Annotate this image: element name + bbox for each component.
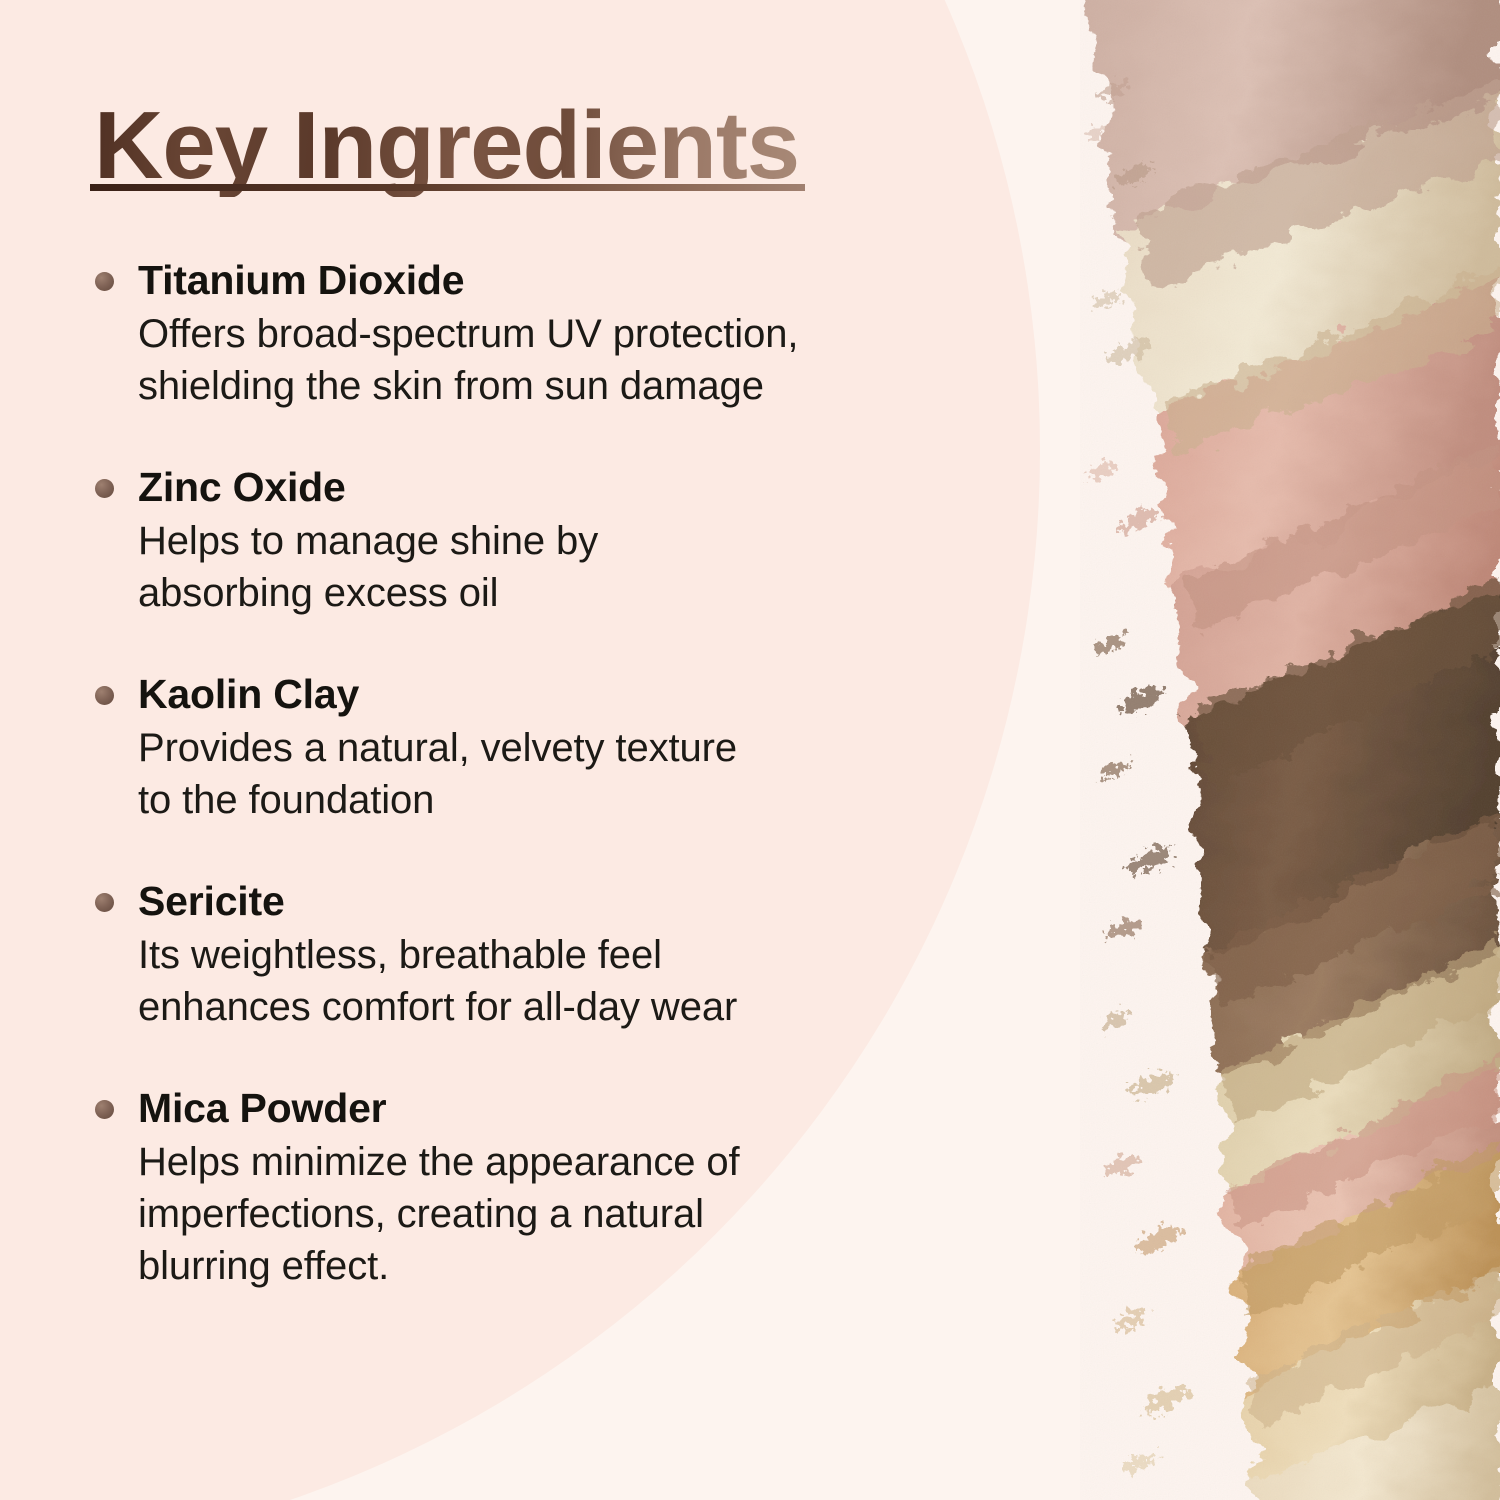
ingredient-name: Zinc Oxide xyxy=(138,462,1000,512)
list-item: Titanium Dioxide Offers broad-spectrum U… xyxy=(86,255,1000,412)
poster-canvas: Key Ingredients Titanium Dioxide Offers … xyxy=(0,0,1500,1500)
list-item: Mica Powder Helps minimize the appearanc… xyxy=(86,1083,1000,1292)
page-title: Key Ingredients xyxy=(86,96,807,197)
ingredient-description: Its weightless, breathable feel enhances… xyxy=(138,929,1000,1033)
bullet-dot-icon xyxy=(95,686,114,705)
ingredient-name: Kaolin Clay xyxy=(138,669,1000,719)
list-item: Sericite Its weightless, breathable feel… xyxy=(86,876,1000,1033)
ingredient-name: Titanium Dioxide xyxy=(138,255,1000,305)
ingredient-description: Helps minimize the appearance of imperfe… xyxy=(138,1136,1000,1292)
bullet-dot-icon xyxy=(95,893,114,912)
ingredient-description: Provides a natural, velvety texture to t… xyxy=(138,722,1000,826)
ingredient-name: Sericite xyxy=(138,876,1000,926)
powder-swatch-image xyxy=(1080,0,1500,1500)
ingredients-list: Titanium Dioxide Offers broad-spectrum U… xyxy=(86,255,1000,1292)
bullet-dot-icon xyxy=(95,479,114,498)
list-item: Zinc Oxide Helps to manage shine by abso… xyxy=(86,462,1000,619)
ingredient-description: Offers broad-spectrum UV protection, shi… xyxy=(138,308,1000,412)
page-title-underline xyxy=(90,184,805,191)
bullet-dot-icon xyxy=(95,1100,114,1119)
ingredient-description: Helps to manage shine by absorbing exces… xyxy=(138,515,1000,619)
list-item: Kaolin Clay Provides a natural, velvety … xyxy=(86,669,1000,826)
powder-swatch-svg xyxy=(1080,0,1500,1500)
content-column: Key Ingredients Titanium Dioxide Offers … xyxy=(0,0,1000,1500)
page-title-text: Key Ingredients xyxy=(86,96,807,197)
ingredient-name: Mica Powder xyxy=(138,1083,1000,1133)
bullet-dot-icon xyxy=(95,272,114,291)
